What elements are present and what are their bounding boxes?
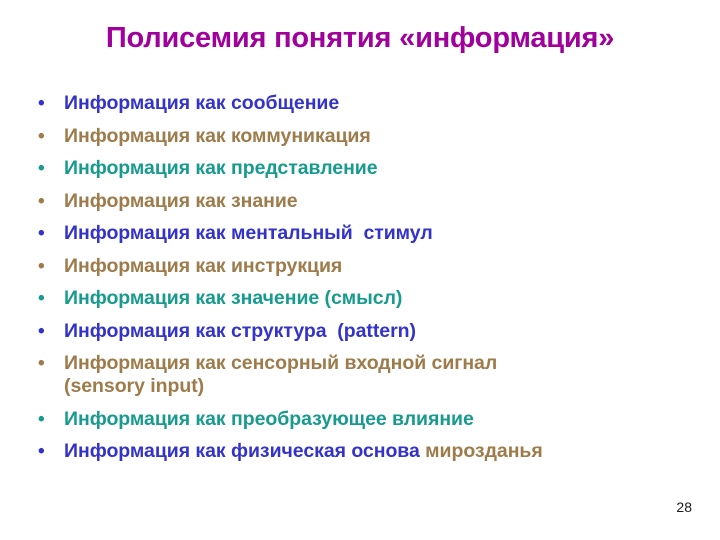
- list-item-label: Информация как физическая основа мирозда…: [64, 440, 694, 463]
- list-item: • Информация как коммуникация: [34, 125, 694, 148]
- bullet-icon: •: [34, 125, 64, 148]
- list-item-label: Информация как знание: [64, 190, 694, 213]
- list-item-label: Информация как структура (pattern): [64, 320, 694, 343]
- list-item: • Информация как ментальный стимул: [34, 222, 694, 245]
- list-item-label: Информация как ментальный стимул: [64, 222, 694, 245]
- list-item-label: Информация как преобразующее влияние: [64, 408, 694, 431]
- list-item-label: Информация как сообщение: [64, 92, 694, 115]
- list-item: • Информация как сенсорный входной сигна…: [34, 352, 694, 398]
- bullet-icon: •: [34, 222, 64, 245]
- bullet-icon: •: [34, 190, 64, 213]
- bullet-icon: •: [34, 408, 64, 431]
- list-item: • Информация как сообщение: [34, 92, 694, 115]
- list-item: • Информация как структура (pattern): [34, 320, 694, 343]
- page-number: 28: [676, 499, 692, 515]
- bullet-icon: •: [34, 352, 64, 375]
- page-title: Полисемия понятия «информация»: [0, 22, 720, 55]
- list-item-label: Информация как сенсорный входной сигнал …: [64, 352, 694, 398]
- list-item-label: Информация как значение (смысл): [64, 287, 694, 310]
- list-item: • Информация как инструкция: [34, 255, 694, 278]
- bullet-icon: •: [34, 157, 64, 180]
- list-item-label: Информация как коммуникация: [64, 125, 694, 148]
- list-item: • Информация как преобразующее влияние: [34, 408, 694, 431]
- bullet-icon: •: [34, 440, 64, 463]
- slide: Полисемия понятия «информация» • Информа…: [0, 0, 720, 540]
- list-item: • Информация как значение (смысл): [34, 287, 694, 310]
- bullet-icon: •: [34, 92, 64, 115]
- list-item: • Информация как физическая основа мироз…: [34, 440, 694, 463]
- bullet-list: • Информация как сообщение • Информация …: [34, 92, 694, 473]
- bullet-icon: •: [34, 255, 64, 278]
- list-item-label: Информация как инструкция: [64, 255, 694, 278]
- bullet-icon: •: [34, 287, 64, 310]
- list-item: • Информация как знание: [34, 190, 694, 213]
- list-item-label-main: Информация как физическая основа: [64, 440, 425, 462]
- bullet-icon: •: [34, 320, 64, 343]
- list-item-label-tail: мирозданья: [425, 440, 543, 462]
- list-item-label: Информация как представление: [64, 157, 694, 180]
- list-item: • Информация как представление: [34, 157, 694, 180]
